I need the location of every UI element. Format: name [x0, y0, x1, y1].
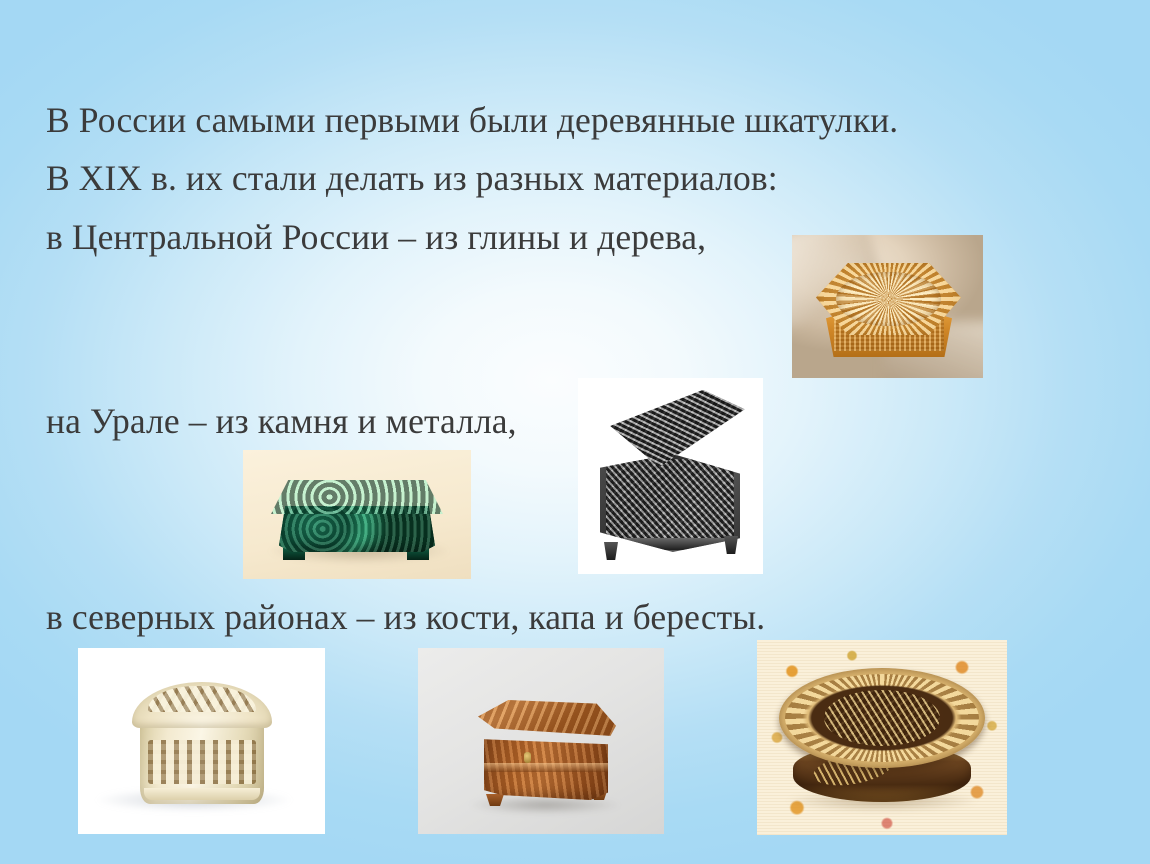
- birch-bark-oval-box-photo: [757, 640, 1007, 835]
- presentation-slide: В России самыми первыми были деревянные …: [0, 0, 1150, 864]
- slide-text-line-3: в Центральной России – из глины и дерева…: [46, 218, 706, 258]
- burl-wood-casket-photo: [418, 648, 664, 834]
- slide-text-line-2: В XIX в. их стали делать из разных матер…: [46, 159, 778, 199]
- kap-casket-body: [484, 738, 608, 800]
- iron-casket-body: [600, 454, 740, 552]
- slide-text-line-5: в северных районах – из кости, капа и бе…: [46, 598, 765, 638]
- bone-box-body-openwork: [140, 718, 264, 804]
- hexagonal-box-shape: [810, 257, 967, 365]
- keyhole-icon: [524, 752, 531, 763]
- carved-bone-round-box-photo: [78, 648, 325, 834]
- malachite-box-lid: [271, 480, 443, 514]
- slide-text-line-1: В России самыми первыми были деревянные …: [46, 101, 898, 141]
- birch-bark-lid-pinecone-decor: [779, 668, 985, 768]
- cast-iron-openwork-casket-photo: [578, 378, 763, 574]
- carved-wooden-hexagonal-box-photo: [792, 235, 983, 378]
- slide-text-line-4: на Урале – из камня и металла,: [46, 402, 517, 442]
- malachite-stone-box-photo: [243, 450, 471, 579]
